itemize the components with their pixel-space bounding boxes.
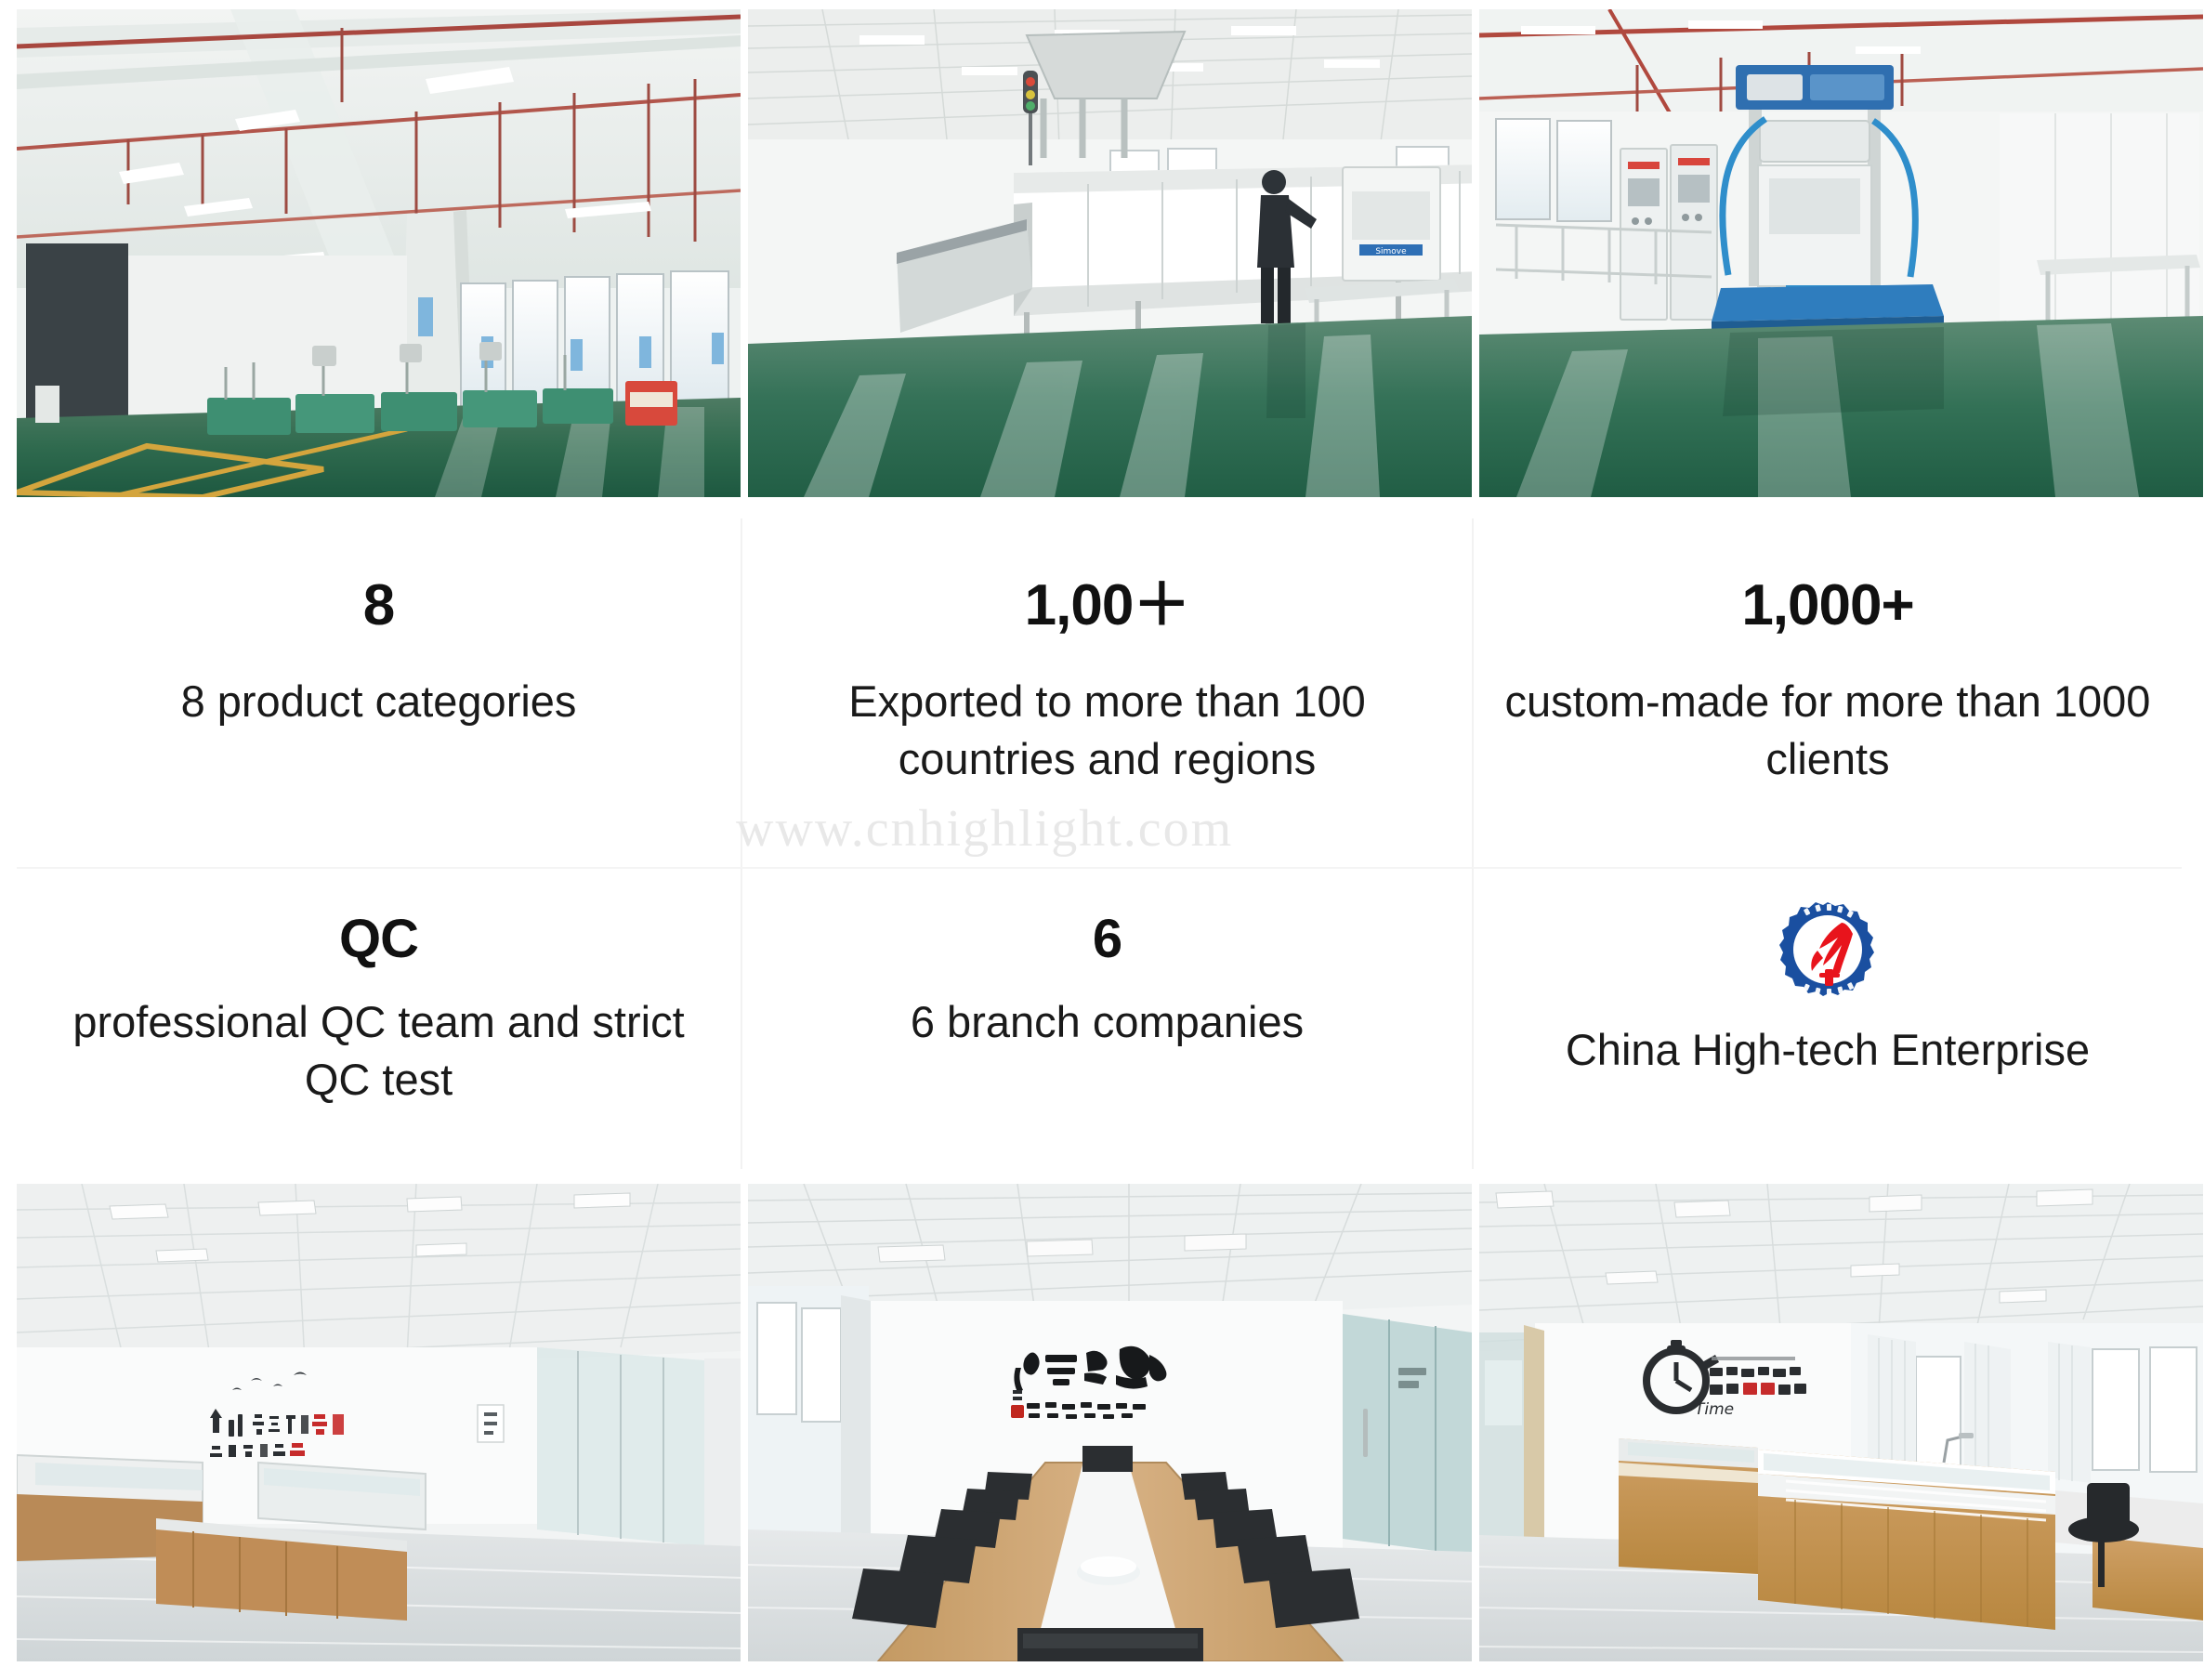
coating-equipment-photo bbox=[1479, 9, 2203, 497]
stat-label: 6 branch companies bbox=[911, 993, 1304, 1051]
reflow-oven-line-photo: Simove bbox=[748, 9, 1472, 497]
conference-room-photo bbox=[748, 1184, 1472, 1661]
stat-cell-qc-team: QC professional QC team and strict QC te… bbox=[17, 867, 741, 1169]
stat-cell-exported-countries: 1,00＋ Exported to more than 100 countrie… bbox=[741, 518, 1472, 867]
workstation-office-photo: Time bbox=[1479, 1184, 2203, 1661]
company-profile-banner: Simove bbox=[0, 0, 2204, 1680]
stat-number: 8 bbox=[363, 574, 394, 637]
stat-label: Exported to more than 100 countries and … bbox=[767, 673, 1448, 788]
factory-production-line-photo bbox=[17, 9, 741, 497]
stat-label: 8 product categories bbox=[181, 673, 577, 730]
bottom-photo-row: Time bbox=[17, 1184, 2182, 1661]
stat-cell-custom-made-clients: 1,000+ custom-made for more than 1000 cl… bbox=[1472, 518, 2182, 867]
stat-number: 1,000+ bbox=[1741, 574, 1913, 637]
stat-cell-branch-companies: 6 6 branch companies bbox=[741, 867, 1472, 1169]
stat-number: 6 bbox=[1093, 910, 1122, 969]
stat-label: professional QC team and strict QC test bbox=[41, 993, 716, 1109]
open-office-photo bbox=[17, 1184, 741, 1661]
stat-label: China High-tech Enterprise bbox=[1566, 1021, 2090, 1079]
stat-number: 1,00＋ bbox=[1025, 574, 1190, 637]
stat-number: QC bbox=[339, 910, 418, 969]
svg-text:Simove: Simove bbox=[1375, 247, 1407, 256]
china-high-tech-enterprise-logo bbox=[1777, 899, 1879, 1001]
stat-cell-product-categories: 8 8 product categories bbox=[17, 518, 741, 867]
stats-table: 8 8 product categories 1,00＋ Exported to… bbox=[17, 518, 2182, 1169]
stat-label: custom-made for more than 1000 clients bbox=[1498, 673, 2158, 788]
stat-cell-high-tech-enterprise: China High-tech Enterprise bbox=[1472, 867, 2182, 1169]
top-photo-row: Simove bbox=[17, 9, 2182, 497]
svg-text:Time: Time bbox=[1695, 1400, 1734, 1419]
